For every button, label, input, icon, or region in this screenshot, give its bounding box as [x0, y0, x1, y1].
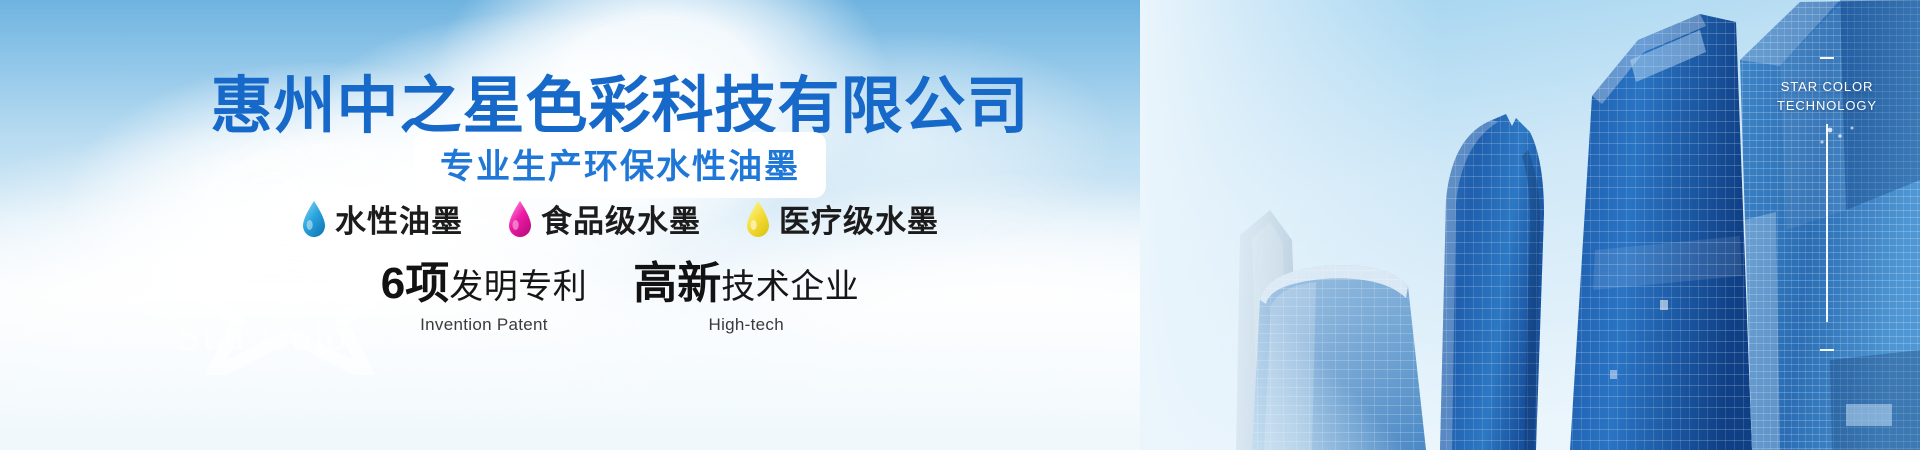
- badge-item: 高新技术企业 High-tech: [633, 262, 859, 335]
- badge-item: 6项发明专利 Invention Patent: [381, 262, 587, 335]
- tower-rule-vertical: [1826, 124, 1828, 322]
- tower-rule-bottom: [1820, 349, 1834, 351]
- feature-item: 食品级水墨: [507, 196, 701, 241]
- feature-label: 水性油墨: [335, 196, 463, 241]
- water-drop-icon: [301, 200, 327, 238]
- feature-item: 医疗级水墨: [745, 196, 939, 241]
- badge-english: Invention Patent: [381, 315, 587, 335]
- badge-rest-text: 技术企业: [721, 268, 859, 306]
- badge-rest-text: 发明专利: [449, 268, 587, 306]
- badge-strong-text: 6项: [381, 259, 449, 308]
- feature-label: 食品级水墨: [541, 196, 701, 241]
- subtitle-container: 专业生产环保水性油墨: [0, 132, 1240, 198]
- water-drop-icon: [745, 200, 771, 238]
- feature-list: 水性油墨 食品级水墨: [0, 196, 1240, 241]
- badge-chinese: 6项发明专利: [381, 262, 587, 306]
- water-drop-icon: [507, 200, 533, 238]
- promo-banner: Star Color: [0, 0, 1920, 450]
- feature-item: 水性油墨: [301, 196, 463, 241]
- tower-rule-top: [1820, 57, 1834, 59]
- badge-strong-text: 高新: [633, 259, 721, 308]
- badge-english: High-tech: [633, 315, 859, 335]
- subtitle-pill: 专业生产环保水性油墨: [414, 132, 826, 198]
- badge-chinese: 高新技术企业: [633, 262, 859, 306]
- banner-content: 惠州中之星色彩科技有限公司 专业生产环保水性油墨 水性油: [0, 0, 1240, 450]
- skyline-photo: [1140, 0, 1920, 450]
- badge-list: 6项发明专利 Invention Patent 高新技术企业 High-tech: [0, 262, 1240, 335]
- feature-label: 医疗级水墨: [779, 196, 939, 241]
